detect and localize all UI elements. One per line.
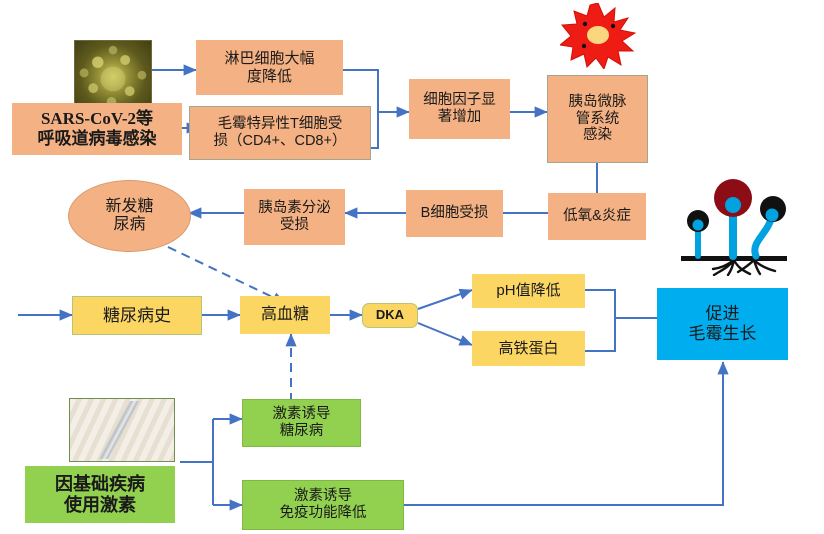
node-ph-decrease[interactable]: pH值降低 [472, 274, 585, 308]
wire-immunosuppression-to-promote [404, 362, 723, 505]
node-new-onset-diabetes[interactable]: 新发糖 尿病 [68, 180, 191, 252]
node-steroid-induced-diabetes[interactable]: 激素诱导 糖尿病 [242, 399, 361, 447]
node-islet-microvascular-infection[interactable]: 胰岛微脉 管系统 感染 [547, 75, 648, 163]
node-steroid-use[interactable]: 因基础疾病 使用激素 [25, 466, 175, 523]
wire-dka-to-ferritin [418, 323, 472, 345]
node-b-cell-damage[interactable]: B细胞受损 [406, 190, 503, 237]
node-steroid-induced-immunosuppression[interactable]: 激素诱导 免疫功能降低 [242, 480, 404, 530]
node-sars-infection[interactable]: SARS-CoV-2等 呼吸道病毒感染 [12, 103, 182, 155]
red-starburst-icon [560, 3, 636, 69]
wire-ferritin-merge [585, 318, 615, 351]
node-lymphocyte-drop[interactable]: 淋巴细胞大幅 度降低 [196, 40, 343, 95]
wire-tcell-merge [371, 112, 378, 148]
node-hyperglycemia[interactable]: 高血糖 [240, 296, 330, 334]
wire-diabetes-to-hyperglycemia [168, 247, 285, 303]
mucor-fungus-icon [676, 176, 794, 276]
wire-steroid-branch-up [180, 419, 213, 462]
node-tcell-damage[interactable]: 毛霉特异性T细胞受 损（CD4+、CD8+） [189, 106, 371, 160]
node-promote-mucor-growth[interactable]: 促进 毛霉生长 [657, 288, 788, 360]
wire-ph-merge [585, 290, 615, 318]
node-insulin-secretion-impaired[interactable]: 胰岛素分泌 受损 [244, 189, 345, 245]
wire-dka-to-ph [418, 290, 472, 309]
node-diabetes-history[interactable]: 糖尿病史 [72, 296, 202, 335]
pills-image [69, 398, 175, 462]
diagram-canvas: SARS-CoV-2等 呼吸道病毒感染 淋巴细胞大幅 度降低 毛霉特异性T细胞受… [0, 0, 824, 534]
node-dka[interactable]: DKA [362, 303, 418, 328]
node-high-ferritin[interactable]: 高铁蛋白 [472, 331, 585, 366]
node-cytokine-increase[interactable]: 细胞因子显 著增加 [409, 79, 510, 139]
node-hypoxia-inflammation[interactable]: 低氧&炎症 [548, 193, 646, 240]
